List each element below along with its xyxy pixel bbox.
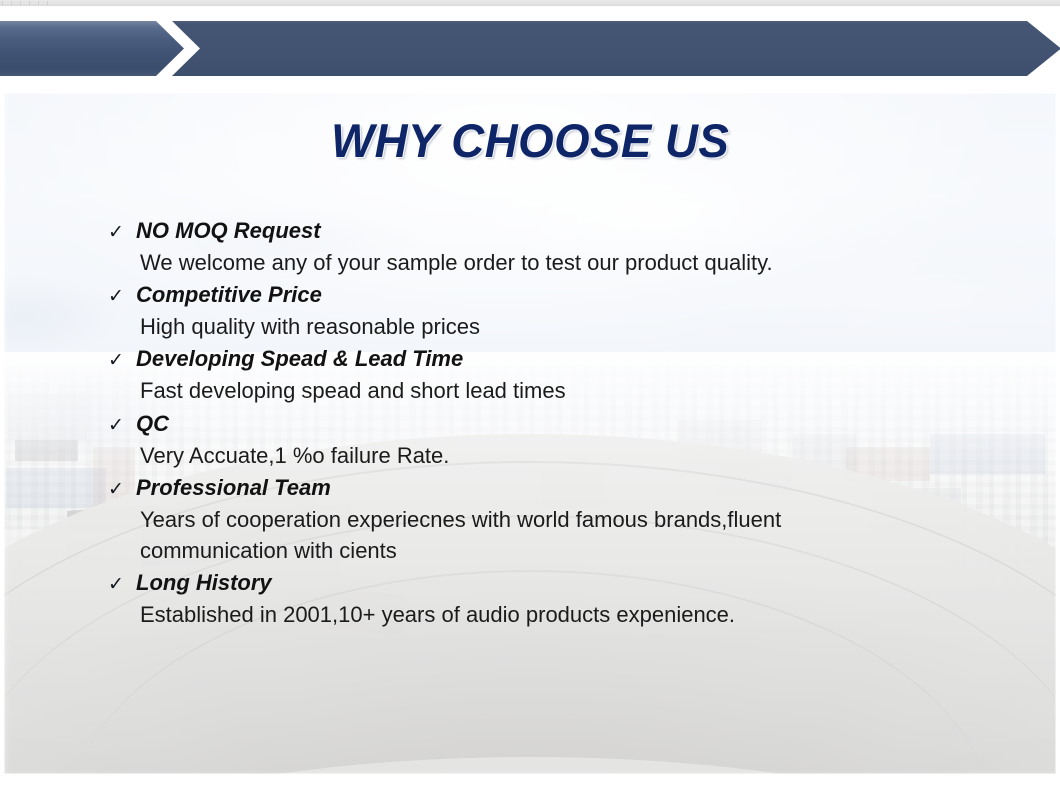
check-icon: ✓: [108, 348, 136, 375]
list-item: ✓QC Very Accuate,1 %o failure Rate.: [108, 408, 1008, 471]
check-icon: ✓: [108, 284, 136, 311]
top-strip: [0, 0, 1060, 6]
header-chevron-band: [0, 21, 1060, 76]
benefit-heading-text: Professional Team: [136, 475, 331, 500]
benefit-description: Fast developing spead and short lead tim…: [140, 375, 1008, 406]
page-title: WHY CHOOSE US: [4, 113, 1056, 168]
benefit-heading: ✓Developing Spead & Lead Time: [108, 343, 1008, 375]
benefit-heading: ✓Professional Team: [108, 472, 1008, 504]
top-strip-ticks: [2, 1, 48, 5]
page-title-text: WHY CHOOSE US: [331, 113, 729, 168]
benefit-heading: ✓Long History: [108, 567, 1008, 599]
list-item: ✓Competitive Price High quality with rea…: [108, 279, 1008, 342]
benefit-description: Years of cooperation experiecnes with wo…: [140, 504, 880, 566]
slide-foreground: WHY CHOOSE US ✓NO MOQ Request We welcome…: [4, 93, 1056, 774]
benefit-heading-text: Competitive Price: [136, 282, 322, 307]
benefit-heading-text: NO MOQ Request: [136, 218, 321, 243]
large-chevron: [172, 21, 1060, 76]
benefit-description: Very Accuate,1 %o failure Rate.: [140, 440, 1008, 471]
content-panel: WHY CHOOSE US ✓NO MOQ Request We welcome…: [4, 93, 1056, 774]
benefit-description: Established in 2001,10+ years of audio p…: [140, 599, 1008, 630]
check-icon: ✓: [108, 572, 136, 599]
benefit-description: We welcome any of your sample order to t…: [140, 247, 1008, 278]
list-item: ✓Professional Team Years of cooperation …: [108, 472, 1008, 566]
benefit-heading: ✓NO MOQ Request: [108, 215, 1008, 247]
benefit-heading-text: QC: [136, 411, 169, 436]
slide-canvas: WHY CHOOSE US ✓NO MOQ Request We welcome…: [0, 0, 1060, 789]
list-item: ✓Long History Established in 2001,10+ ye…: [108, 567, 1008, 630]
benefit-heading: ✓Competitive Price: [108, 279, 1008, 311]
benefits-list: ✓NO MOQ Request We welcome any of your s…: [108, 215, 1008, 631]
list-item: ✓Developing Spead & Lead Time Fast devel…: [108, 343, 1008, 406]
check-icon: ✓: [108, 477, 136, 504]
benefit-heading-text: Developing Spead & Lead Time: [136, 346, 463, 371]
check-icon: ✓: [108, 413, 136, 440]
benefit-description: High quality with reasonable prices: [140, 311, 1008, 342]
small-chevron: [0, 21, 184, 76]
check-icon: ✓: [108, 220, 136, 247]
benefit-heading-text: Long History: [136, 570, 272, 595]
list-item: ✓NO MOQ Request We welcome any of your s…: [108, 215, 1008, 278]
benefit-heading: ✓QC: [108, 408, 1008, 440]
